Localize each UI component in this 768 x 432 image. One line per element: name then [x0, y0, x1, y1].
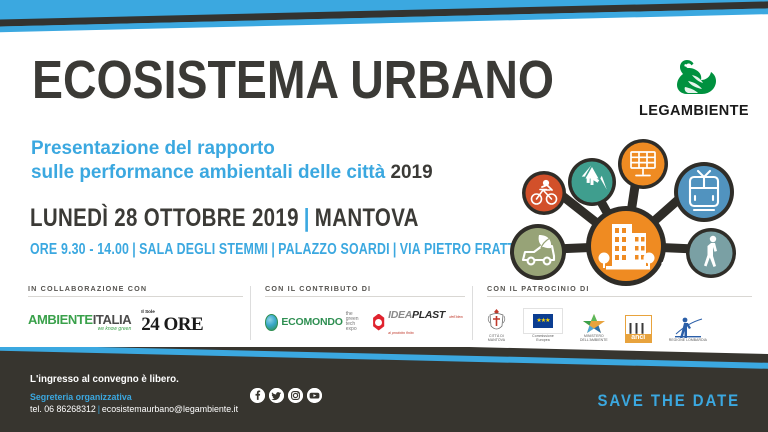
footer-band: [0, 347, 768, 432]
subtitle-line-1: Presentazione del rapporto: [31, 137, 275, 159]
partners-rule-1: [28, 296, 243, 297]
date-city-separator: |: [299, 204, 315, 232]
ideaplast-logo: IDEAPLAST dell'Idea al prodotto finito: [372, 306, 465, 338]
ministero-ambiente-star-logo: MINISTERODELL'AMBIENTE: [580, 312, 608, 343]
partners-column-patronage: CON IL PATROCINIO DI CITTÀ DIMANTOVA ★★★: [487, 284, 752, 343]
event-venue-line: ORE 9.30 - 14.00|SALA DEGLI STEMMI|PALAZ…: [30, 242, 553, 258]
partners-column-contribution: CON IL CONTRIBUTO DI ECOMONDO the greent…: [265, 284, 465, 342]
ideaplast-hexagon-icon: [372, 314, 385, 331]
contact-phone: tel. 06 86268312: [30, 404, 96, 415]
page-title: ECOSISTEMA URBANO: [32, 53, 554, 107]
social-links: [250, 388, 322, 403]
ministero-star-icon: [581, 312, 607, 334]
solar-panel-icon: [618, 139, 668, 189]
venue-sep-2: |: [268, 241, 278, 258]
anci-wordmark: anci: [626, 334, 651, 342]
legambiente-logo: LEGAMBIENTE: [634, 55, 754, 119]
ambiente-italia-tagline: we know green: [28, 327, 131, 332]
ecomondo-wordmark: ECOMONDO: [281, 316, 342, 328]
cyclist-icon: [522, 171, 566, 215]
event-poster: ECOSISTEMA URBANO Presentazione del rapp…: [0, 0, 768, 432]
venue-building: PALAZZO SOARDI: [278, 241, 390, 258]
european-union-flag-logo: ★★★ CommissioneEuropea: [523, 308, 563, 343]
partners-label-contribution: CON IL CONTRIBUTO DI: [265, 284, 465, 296]
partners-rule-2: [265, 296, 465, 297]
city-building-icon: [586, 206, 666, 286]
youtube-icon[interactable]: [307, 388, 322, 403]
venue-time: ORE 9.30 - 14.00: [30, 241, 129, 258]
facebook-icon[interactable]: [250, 388, 265, 403]
ambiente-italia-logo: AMBIENTEITALIA we know green: [28, 313, 131, 332]
partners-label-patronage: CON IL PATROCINIO DI: [487, 284, 752, 296]
page-subtitle: Presentazione del rapporto sulle perform…: [31, 137, 433, 185]
secretariat-label: Segreteria organizzativa: [30, 392, 132, 403]
subtitle-line-2: sulle performance ambientali delle città: [31, 161, 385, 183]
instagram-icon[interactable]: [288, 388, 303, 403]
eu-flag-icon: ★★★: [523, 308, 563, 334]
top-decorative-band: [0, 0, 768, 46]
event-date-line: LUNEDÌ 28 OTTOBRE 2019|MANTOVA: [30, 206, 419, 231]
ecomondo-tagline: the greentech expo: [346, 312, 362, 333]
pedestrian-crossing-icon: [659, 228, 736, 278]
subtitle-year: 2019: [391, 161, 433, 183]
secretariat-contact: tel. 06 86268312|ecosistemaurbano@legamb…: [30, 404, 238, 415]
save-the-date-label: SAVE THE DATE: [597, 391, 740, 411]
event-city: MANTOVA: [315, 204, 419, 232]
eu-caption: CommissioneEuropea: [532, 335, 554, 343]
ideaplast-text-b: PLAST: [412, 309, 445, 321]
twitter-icon[interactable]: [269, 388, 284, 403]
partners-strip: IN COLLABORAZIONE CON AMBIENTEITALIA we …: [0, 284, 768, 346]
mantova-crest-icon: [487, 308, 506, 334]
regione-figure-icon: [672, 316, 704, 338]
partners-label-collaboration: IN COLLABORAZIONE CON: [28, 284, 243, 296]
anci-icon: anci: [625, 315, 652, 343]
electric-car-leaf-icon: [510, 224, 566, 280]
regione-lombardia-figure-logo: REGIONE LOMBARDIA: [669, 316, 707, 343]
free-entry-note: L'ingresso al convegno è libero.: [30, 373, 179, 385]
ecomondo-globe-icon: [265, 314, 278, 331]
venue-room: SALA DEGLI STEMMI: [139, 241, 268, 258]
partners-rule-3: [487, 296, 752, 297]
tram-icon: [674, 162, 734, 222]
ambiente-italia-text-a: AMBIENTE: [28, 312, 93, 327]
anci-logo: anci: [625, 315, 652, 343]
ideaplast-text-a: IDEA: [388, 309, 412, 321]
mantova-caption: CITTÀ DIMANTOVA: [488, 335, 505, 343]
ambiente-italia-text-b: ITALIA: [93, 312, 132, 327]
il-sole-24-ore-logo: Il Sole 24 ORE: [141, 310, 203, 334]
ecomondo-logo: ECOMONDO the greentech expo: [265, 312, 362, 333]
urban-ecosystem-icon-cluster: [498, 136, 760, 292]
partners-column-collaboration: IN COLLABORAZIONE CON AMBIENTEITALIA we …: [28, 284, 243, 342]
partners-divider-1: [250, 286, 251, 340]
venue-sep-3: |: [390, 241, 400, 258]
legambiente-swan-icon: [666, 55, 722, 97]
legambiente-wordmark: LEGAMBIENTE: [634, 103, 754, 119]
regione-caption: REGIONE LOMBARDIA: [669, 339, 707, 343]
eu-stars: ★★★: [536, 317, 549, 324]
ministero-caption: MINISTERODELL'AMBIENTE: [580, 335, 608, 343]
il-sole-big-text: 24 ORE: [141, 315, 203, 334]
contact-email[interactable]: ecosistemaurbano@legambiente.it: [102, 404, 238, 415]
recycling-arrows-icon: [568, 158, 616, 206]
venue-sep-1: |: [129, 241, 139, 258]
partners-divider-2: [472, 286, 473, 340]
citta-di-mantova-crest: CITTÀ DIMANTOVA: [487, 308, 506, 343]
event-date: LUNEDÌ 28 OTTOBRE 2019: [30, 204, 299, 232]
